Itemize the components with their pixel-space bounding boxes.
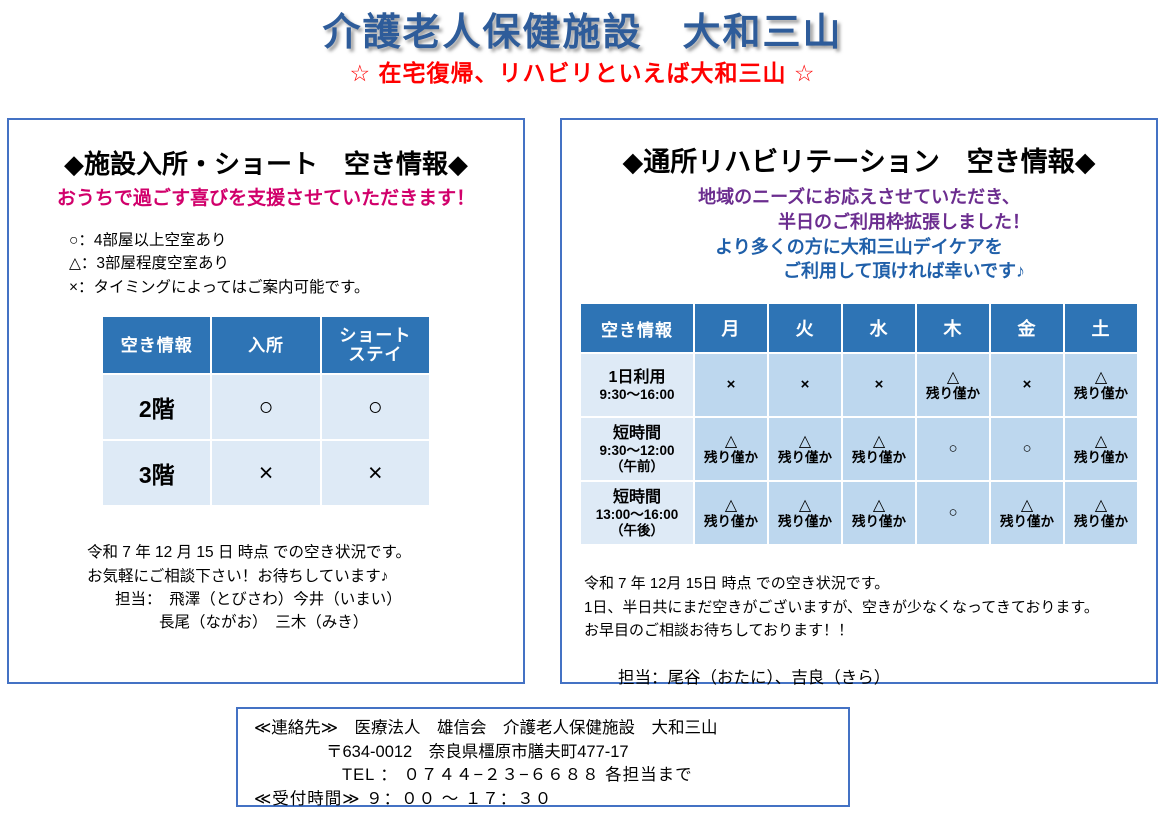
contact-organization: ≪連絡先≫ 医療法人 雄信会 介護老人保健施設 大和三山 (238, 717, 848, 741)
row-label-full-day: 1日利用 9:30〜16:00 (581, 354, 693, 416)
col-header-admission: 入所 (212, 317, 319, 373)
row-label-floor-3: 3階 (103, 441, 210, 505)
cell-afternoon-fri: △ 残り僅か (991, 482, 1063, 544)
facility-admission-panel: ◆施設入所・ショート 空き情報◆ おうちで過ごす喜びを支援させていただきます！ … (7, 118, 525, 684)
legend-item-cross: ×：タイミングによってはご案内可能です。 (69, 276, 523, 300)
left-panel-heading: ◆施設入所・ショート 空き情報◆ (9, 144, 523, 181)
contact-phone: TEL ： ０７４４−２３−６６８８ 各担当まで (238, 764, 848, 788)
cell-mark: △ (1066, 433, 1136, 451)
col-header-short-stay-line2: ステイ (323, 345, 428, 364)
cell-afternoon-wed: △ 残り僅か (843, 482, 915, 544)
cell-note: 残り僅か (1066, 515, 1136, 530)
availability-legend: ○：4部屋以上空室あり △：3部屋程度空室あり ×：タイミングによってはご案内可… (69, 229, 523, 300)
page-subtitle: ☆ 在宅復帰、リハビリといえば大和三山 ☆ (0, 61, 1165, 86)
facility-availability-table: 空き情報 入所 ショート ステイ 2階 ○ ○ 3階 × × (101, 315, 431, 507)
table-row: 1日利用 9:30〜16:00 × × × △ 残り僅か × (581, 354, 1137, 416)
table-row: 短時間 13:00〜16:00 （午後） △ 残り僅か △ 残り僅か △ 残り僅… (581, 482, 1137, 544)
row-label-time: 13:00〜16:00 (583, 507, 691, 523)
cell-mark: × (844, 377, 914, 394)
row-label-short-morning: 短時間 9:30〜12:00 （午前） (581, 418, 693, 480)
cell-floor2-short-stay: ○ (322, 375, 429, 439)
day-rehab-panel: ◆通所リハビリテーション 空き情報◆ 地域のニーズにお応えさせていただき、 半日… (560, 118, 1158, 684)
row-label-note: （午後） (583, 523, 691, 539)
left-footer-message: お気軽にご相談下さい！お待ちしています♪ (87, 565, 523, 588)
cell-mark: △ (770, 433, 840, 451)
row-label-note: （午前） (583, 459, 691, 475)
cell-morning-wed: △ 残り僅か (843, 418, 915, 480)
right-footer-message-1: 1日、半日共にまだ空きがございますが、空きが少なくなってきております。 (584, 596, 1156, 619)
col-header-sat: 土 (1065, 304, 1137, 352)
cell-afternoon-tue: △ 残り僅か (769, 482, 841, 544)
cell-afternoon-thu: ○ (917, 482, 989, 544)
row-label-time: 9:30〜12:00 (583, 443, 691, 459)
right-panel-lead: 地域のニーズにお応えさせていただき、 半日のご利用枠拡張しました！ より多くの方… (562, 185, 1156, 284)
row-label-time: 9:30〜16:00 (583, 387, 691, 403)
contact-address: 〒634-0012 奈良県橿原市膳夫町477-17 (238, 741, 848, 765)
cell-floor3-short-stay: × (322, 441, 429, 505)
cell-note: 残り僅か (696, 515, 766, 530)
right-lead-line-4: ご利用して頂ければ幸いです♪ (562, 259, 1156, 284)
cell-morning-tue: △ 残り僅か (769, 418, 841, 480)
left-footer-date: 令和 7 年 12 月 15 日 時点 での空き状況です。 (87, 541, 523, 564)
row-label-short-afternoon: 短時間 13:00〜16:00 （午後） (581, 482, 693, 544)
table-row: 短時間 9:30〜12:00 （午前） △ 残り僅か △ 残り僅か △ 残り僅か (581, 418, 1137, 480)
page-title: 介護老人保健施設 大和三山 (0, 12, 1165, 55)
cell-mark: ○ (992, 441, 1062, 458)
cell-morning-sat: △ 残り僅か (1065, 418, 1137, 480)
col-header-short-stay-line1: ショート (323, 326, 428, 345)
cell-note: 残り僅か (844, 451, 914, 466)
row-label-name: 短時間 (583, 488, 691, 507)
cell-morning-mon: △ 残り僅か (695, 418, 767, 480)
cell-fullday-fri: × (991, 354, 1063, 416)
right-lead-line-3: より多くの方に大和三山デイケアを (562, 235, 1156, 260)
cell-note: 残り僅か (770, 451, 840, 466)
right-footer-message-2: お早目のご相談お待ちしております！！ (584, 619, 1156, 642)
row-label-floor-2: 2階 (103, 375, 210, 439)
cell-mark: × (992, 377, 1062, 394)
cell-afternoon-mon: △ 残り僅か (695, 482, 767, 544)
table-header-row: 空き情報 入所 ショート ステイ (103, 317, 429, 373)
row-label-name: 短時間 (583, 424, 691, 443)
col-header-tue: 火 (769, 304, 841, 352)
right-lead-line-1: 地域のニーズにお応えさせていただき、 (562, 185, 1156, 210)
cell-morning-fri: ○ (991, 418, 1063, 480)
left-footer-staff-2: 長尾（ながお） 三木（みき） (87, 611, 523, 634)
right-footer-date: 令和 7 年 12月 15日 時点 での空き状況です。 (584, 572, 1156, 595)
left-panel-lead: おうちで過ごす喜びを支援させていただきます！ (9, 187, 523, 211)
cell-note: 残り僅か (844, 515, 914, 530)
cell-note: 残り僅か (770, 515, 840, 530)
col-header-availability: 空き情報 (103, 317, 210, 373)
cell-note: 残り僅か (992, 515, 1062, 530)
row-label-name: 1日利用 (583, 368, 691, 387)
table-header-row: 空き情報 月 火 水 木 金 土 (581, 304, 1137, 352)
cell-mark: ○ (918, 441, 988, 458)
cell-mark: × (696, 377, 766, 394)
cell-fullday-thu: △ 残り僅か (917, 354, 989, 416)
cell-afternoon-sat: △ 残り僅か (1065, 482, 1137, 544)
cell-fullday-mon: × (695, 354, 767, 416)
left-footer-staff-1: 担当： 飛澤（とびさわ）今井（いまい） (87, 588, 523, 611)
contact-hours: ≪受付時間≫ ９：００ 〜 １７：３０ (238, 788, 848, 812)
col-header-mon: 月 (695, 304, 767, 352)
cell-mark: △ (696, 497, 766, 515)
col-header-thu: 木 (917, 304, 989, 352)
cell-mark: △ (992, 497, 1062, 515)
cell-note: 残り僅か (1066, 451, 1136, 466)
cell-note: 残り僅か (696, 451, 766, 466)
legend-item-circle: ○：4部屋以上空室あり (69, 229, 523, 253)
cell-mark: △ (1066, 369, 1136, 387)
cell-note: 残り僅か (1066, 387, 1136, 402)
cell-mark: △ (918, 369, 988, 387)
cell-note: 残り僅か (918, 387, 988, 402)
col-header-short-stay: ショート ステイ (322, 317, 429, 373)
col-header-fri: 金 (991, 304, 1063, 352)
cell-floor3-admission: × (212, 441, 319, 505)
right-footer-staff: 担当：尾谷（おたに）、吉良（きら） (618, 664, 1156, 688)
right-panel-heading: ◆通所リハビリテーション 空き情報◆ (562, 140, 1156, 179)
right-panel-footer: 令和 7 年 12月 15日 時点 での空き状況です。 1日、半日共にまだ空きが… (584, 572, 1156, 642)
cell-mark: △ (844, 433, 914, 451)
cell-floor2-admission: ○ (212, 375, 319, 439)
cell-mark: △ (770, 497, 840, 515)
col-header-availability: 空き情報 (581, 304, 693, 352)
cell-fullday-wed: × (843, 354, 915, 416)
cell-mark: ○ (918, 505, 988, 522)
table-row: 2階 ○ ○ (103, 375, 429, 439)
page-header: 介護老人保健施設 大和三山 ☆ 在宅復帰、リハビリといえば大和三山 ☆ (0, 0, 1165, 86)
cell-mark: × (770, 377, 840, 394)
contact-box: ≪連絡先≫ 医療法人 雄信会 介護老人保健施設 大和三山 〒634-0012 奈… (236, 707, 850, 807)
table-row: 3階 × × (103, 441, 429, 505)
cell-fullday-tue: × (769, 354, 841, 416)
col-header-wed: 水 (843, 304, 915, 352)
cell-mark: △ (844, 497, 914, 515)
cell-mark: △ (1066, 497, 1136, 515)
left-panel-footer: 令和 7 年 12 月 15 日 時点 での空き状況です。 お気軽にご相談下さい… (87, 541, 523, 634)
legend-item-triangle: △：3部屋程度空室あり (69, 252, 523, 276)
cell-morning-thu: ○ (917, 418, 989, 480)
day-rehab-availability-table: 空き情報 月 火 水 木 金 土 1日利用 9:30〜16:00 × × (579, 302, 1139, 546)
cell-fullday-sat: △ 残り僅か (1065, 354, 1137, 416)
cell-mark: △ (696, 433, 766, 451)
right-lead-line-2: 半日のご利用枠拡張しました！ (562, 210, 1156, 235)
